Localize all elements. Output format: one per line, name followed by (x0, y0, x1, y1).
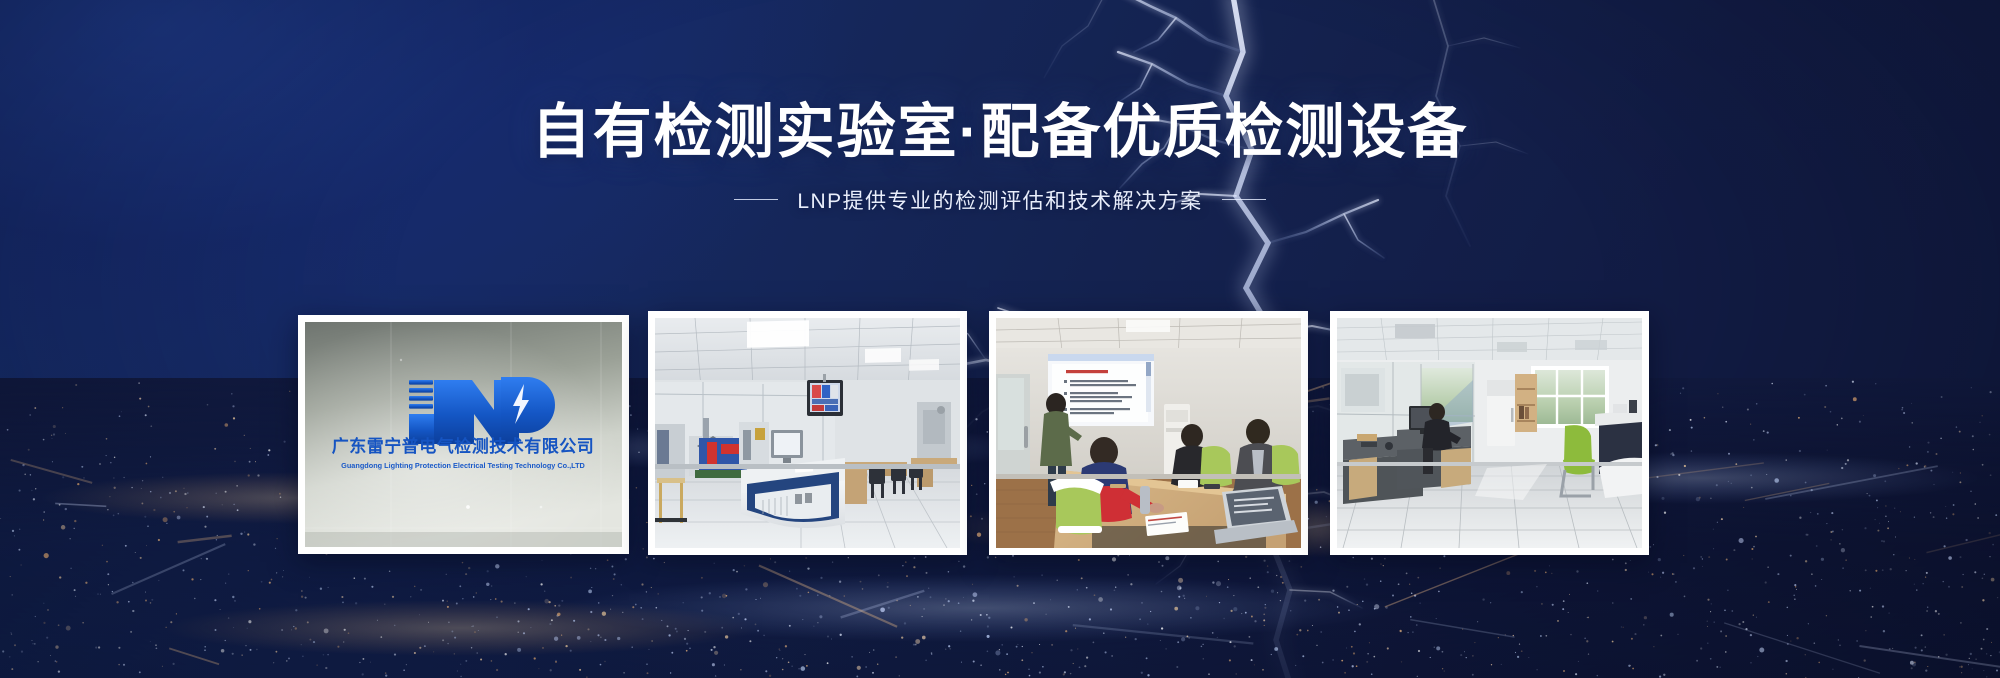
headline-block: 自有检测实验室·配备优质检测设备 LNP提供专业的检测评估和技术解决方案 (0, 100, 2000, 215)
page-subtitle: LNP提供专业的检测评估和技术解决方案 (797, 185, 1202, 215)
rule-left-icon (734, 199, 778, 200)
photo-gallery: 广东雷宁普电气检测技术有限公司 Guangdong Lighting Prote… (298, 311, 1649, 555)
signboard-company-name-en: Guangdong Lighting Protection Electrical… (341, 461, 585, 470)
photo-testing-laboratory (655, 318, 960, 548)
gallery-item-company-signboard[interactable]: 广东雷宁普电气检测技术有限公司 Guangdong Lighting Prote… (298, 315, 629, 554)
signboard-company-name-cn: 广东雷宁普电气检测技术有限公司 (332, 436, 595, 457)
gallery-item-training-meeting-room[interactable] (989, 311, 1308, 555)
photo-open-office-area (1337, 318, 1642, 548)
photo-company-signboard: 广东雷宁普电气检测技术有限公司 Guangdong Lighting Prote… (305, 322, 622, 547)
rule-right-icon (1222, 199, 1266, 200)
banner-stage: 自有检测实验室·配备优质检测设备 LNP提供专业的检测评估和技术解决方案 (0, 0, 2000, 678)
gallery-item-open-office-area[interactable] (1330, 311, 1649, 555)
page-title: 自有检测实验室·配备优质检测设备 (0, 100, 2000, 165)
subtitle-row: LNP提供专业的检测评估和技术解决方案 (0, 185, 2000, 215)
gallery-item-testing-laboratory[interactable] (648, 311, 967, 555)
photo-training-meeting-room (996, 318, 1301, 548)
